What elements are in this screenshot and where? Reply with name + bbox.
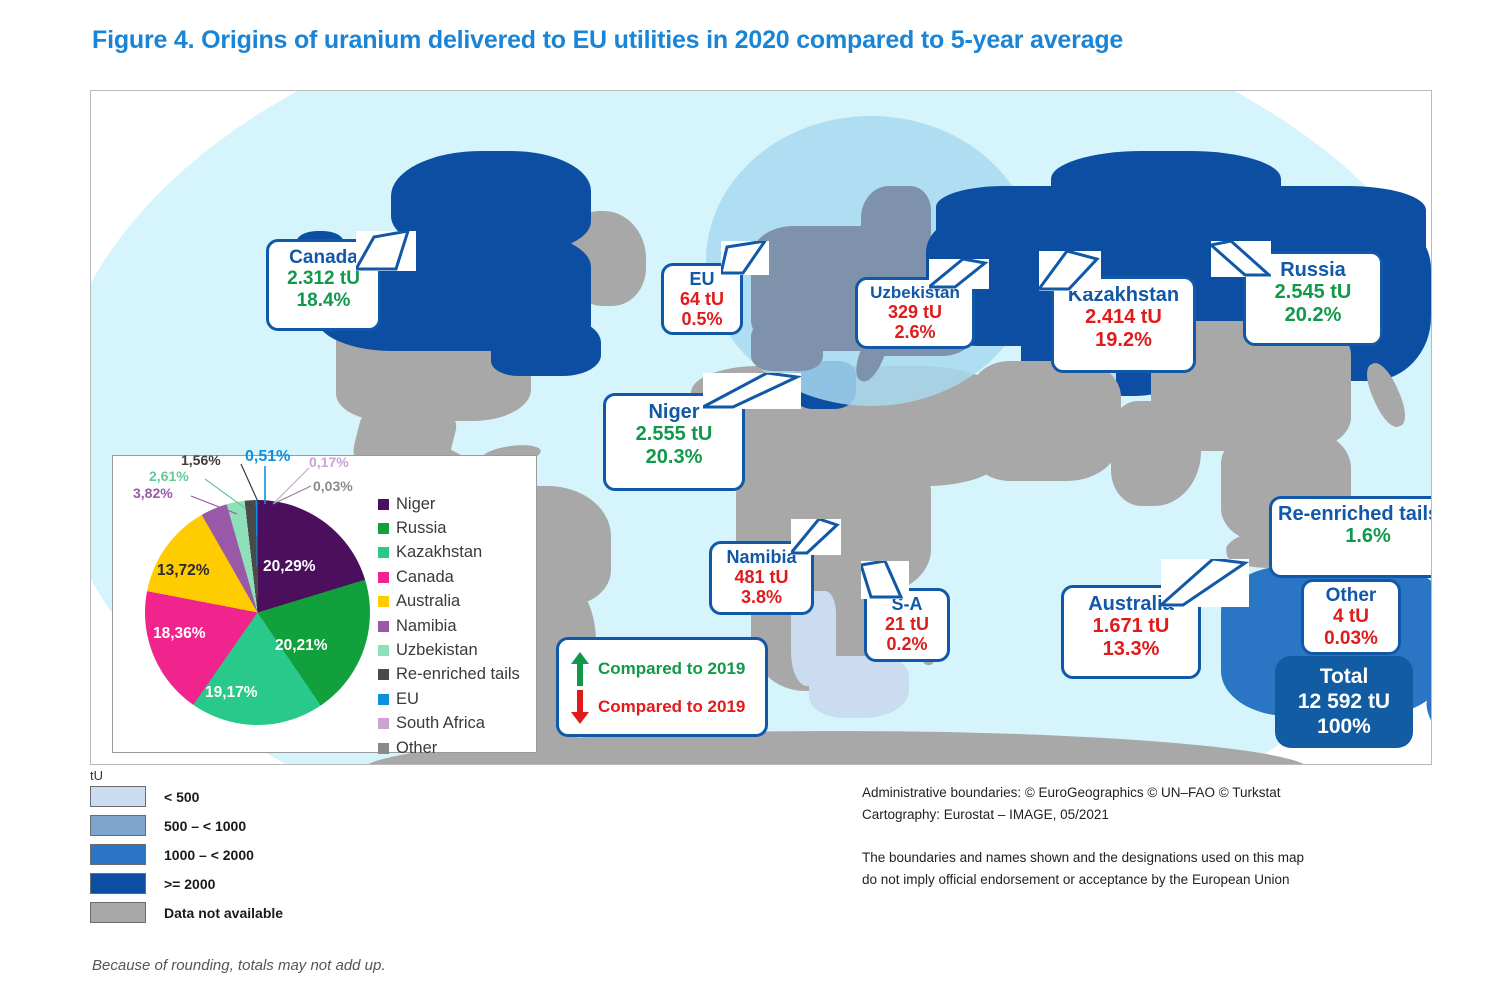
pie-label-niger: 20,29%: [263, 558, 316, 576]
class-legend-item: 1000 – < 2000: [90, 840, 283, 869]
callout-kazakhstan-amount: 2.414 tU: [1064, 306, 1183, 328]
callout-re-enriched-tails-name: Re-enriched tails: [1278, 503, 1432, 525]
class-legend-label: 500 – < 1000: [164, 818, 246, 834]
callout-uzbekistan-amount: 329 tU: [862, 302, 968, 322]
class-legend-label: Data not available: [164, 905, 283, 921]
pie-label-uzbekistan: 2,61%: [149, 468, 189, 484]
class-legend-swatch: [90, 844, 146, 865]
class-legend-label: 1000 – < 2000: [164, 847, 254, 863]
page-title: Figure 4. Origins of uranium delivered t…: [92, 26, 1123, 55]
pie-legend-swatch: [378, 499, 389, 510]
class-legend-label: >= 2000: [164, 876, 215, 892]
pie-legend-swatch: [378, 523, 389, 534]
callout-australia-percent: 13.3%: [1074, 638, 1188, 660]
land-south-africa: [809, 656, 909, 718]
callout-kazakhstan-percent: 19.2%: [1064, 329, 1183, 351]
pie-legend-swatch: [378, 572, 389, 583]
pie-legend-label: Australia: [396, 592, 460, 611]
attribution-line-3: The boundaries and names shown and the d…: [862, 847, 1304, 869]
class-legend-swatch: [90, 786, 146, 807]
callout-russia-amount: 2.545 tU: [1256, 281, 1370, 303]
callout-canada-pointer: [356, 231, 416, 271]
pie-legend-swatch: [378, 645, 389, 656]
callout-eu-amount: 64 tU: [668, 289, 736, 309]
pie-legend-label: Other: [396, 739, 437, 758]
class-legend-item: < 500: [90, 782, 283, 811]
pie-label-russia: 20,21%: [275, 637, 328, 655]
pie-legend-item: Australia: [378, 590, 520, 614]
pie-label-canada: 18,36%: [153, 625, 206, 643]
trend-legend-row-down: Compared to 2019: [571, 690, 749, 724]
trend-legend: Compared to 2019 Compared to 2019: [556, 637, 768, 737]
pie-legend-label: Canada: [396, 568, 454, 587]
arrow-up-icon: [571, 652, 589, 686]
pie-legend-label: Uzbekistan: [396, 641, 478, 660]
pie-legend-item: EU: [378, 687, 520, 711]
attribution-line-1: Administrative boundaries: © EuroGeograp…: [862, 782, 1304, 804]
class-legend-item: 500 – < 1000: [90, 811, 283, 840]
pie-label-australia: 13,72%: [157, 562, 210, 580]
pie-label-eu: 0,51%: [245, 448, 290, 466]
callout-canada-name: Canada: [279, 247, 368, 268]
callout-russia-name: Russia: [1256, 259, 1370, 281]
land-iberia: [751, 321, 823, 371]
pie-label-tails: 1,56%: [181, 452, 221, 468]
callout-niger-amount: 2.555 tU: [616, 423, 732, 445]
pie-legend-swatch: [378, 669, 389, 680]
callout-namibia-amount: 481 tU: [716, 567, 807, 587]
pie-legend-label: EU: [396, 690, 419, 709]
pie-legend-item: Kazakhstan: [378, 541, 520, 565]
map-attribution: Administrative boundaries: © EuroGeograp…: [862, 782, 1304, 891]
class-legend: < 500500 – < 10001000 – < 2000>= 2000Dat…: [90, 782, 283, 927]
pie-legend-item: Niger: [378, 492, 520, 516]
pie-legend-swatch: [378, 596, 389, 607]
class-legend-label: < 500: [164, 789, 199, 805]
pie-label-other: 0,03%: [313, 478, 353, 494]
pie-legend-label: Re-enriched tails: [396, 665, 520, 684]
pie-legend-item: Uzbekistan: [378, 638, 520, 662]
callout-other[interactable]: Other 4 tU 0.03%: [1301, 579, 1401, 655]
callout-eu-percent: 0.5%: [668, 309, 736, 329]
footnote: Because of rounding, totals may not add …: [92, 957, 386, 974]
pie-legend-item: Canada: [378, 565, 520, 589]
pie-legend-item: Re-enriched tails: [378, 663, 520, 687]
callout-re-enriched-tails[interactable]: Re-enriched tails 196 tU 1.6%: [1269, 496, 1432, 578]
class-legend-swatch: [90, 815, 146, 836]
pie-legend-label: Niger: [396, 495, 435, 514]
trend-legend-down-label: Compared to 2019: [598, 697, 745, 717]
class-legend-item: >= 2000: [90, 869, 283, 898]
callout-niger-pointer: [703, 373, 801, 409]
land-canada-arctic: [391, 151, 591, 251]
total-amount: 12 592 tU: [1289, 689, 1399, 714]
pie-label-namibia: 3,82%: [133, 485, 173, 501]
callout-namibia-pointer: [791, 519, 841, 555]
pie-legend-swatch: [378, 694, 389, 705]
total-percent: 100%: [1289, 714, 1399, 739]
callout-eu-pointer: [721, 241, 769, 275]
land-british-isles: [779, 236, 827, 294]
callout-uzbekistan-pointer: [929, 259, 989, 289]
class-legend-swatch: [90, 873, 146, 894]
pie-legend-swatch: [378, 547, 389, 558]
callout-niger-percent: 20.3%: [616, 446, 732, 468]
callout-russia-percent: 20.2%: [1256, 304, 1370, 326]
pie-chart-panel: 20,29% 20,21% 19,17% 18,36% 13,72% 3,82%…: [112, 455, 537, 753]
pie-legend-swatch: [378, 718, 389, 729]
pie-legend-swatch: [378, 743, 389, 754]
callout-other-percent: 0.03%: [1308, 628, 1394, 649]
land-middle-east: [971, 361, 1121, 481]
class-legend-unit: tU: [90, 768, 103, 783]
total-box: Total 12 592 tU 100%: [1275, 656, 1413, 748]
pie-legend-label: Russia: [396, 519, 446, 538]
total-label: Total: [1289, 664, 1399, 689]
callout-australia-amount: 1.671 tU: [1074, 615, 1188, 637]
callout-canada-percent: 18.4%: [279, 290, 368, 311]
callout-south-africa-pointer: [861, 561, 909, 599]
attribution-line-2: Cartography: Eurostat – IMAGE, 05/2021: [862, 804, 1304, 826]
pie-legend-label: Kazakhstan: [396, 543, 482, 562]
callout-australia-pointer: [1161, 559, 1249, 607]
pie-legend-item: Other: [378, 736, 520, 760]
pie-legend-swatch: [378, 621, 389, 632]
callout-south-africa-percent: 0.2%: [871, 634, 943, 654]
callout-other-name: Other: [1308, 585, 1394, 606]
pie-label-kazakhstan: 19,17%: [205, 684, 258, 702]
pie-label-south-africa: 0,17%: [309, 454, 349, 470]
callout-uzbekistan-percent: 2.6%: [862, 322, 968, 342]
pie-legend: NigerRussiaKazakhstanCanadaAustraliaNami…: [378, 492, 520, 760]
land-siberia-north: [1051, 151, 1281, 221]
callout-canada-amount: 2.312 tU: [279, 268, 368, 289]
callout-re-enriched-tails-percent: 1.6%: [1278, 525, 1432, 547]
pie-legend-item: Namibia: [378, 614, 520, 638]
callout-kazakhstan-pointer: [1039, 251, 1101, 291]
pie-legend-item: Russia: [378, 516, 520, 540]
attribution-line-4: do not imply official endorsement or acc…: [862, 869, 1304, 891]
callout-south-africa-amount: 21 tU: [871, 614, 943, 634]
land-scandinavia: [861, 186, 931, 266]
arrow-down-icon: [571, 690, 589, 724]
class-legend-swatch: [90, 902, 146, 923]
class-legend-item: Data not available: [90, 898, 283, 927]
callout-russia-pointer: [1211, 241, 1271, 277]
callout-other-amount: 4 tU: [1308, 606, 1394, 627]
pie-legend-item: South Africa: [378, 712, 520, 736]
trend-legend-up-label: Compared to 2019: [598, 659, 745, 679]
callout-namibia-percent: 3.8%: [716, 587, 807, 607]
pie-chart: 20,29% 20,21% 19,17% 18,36% 13,72%: [145, 500, 370, 725]
trend-legend-row-up: Compared to 2019: [571, 652, 749, 686]
pie-legend-label: Namibia: [396, 617, 457, 636]
land-canada-east: [491, 316, 601, 376]
pie-legend-label: South Africa: [396, 714, 485, 733]
callout-south-africa[interactable]: S-A 21 tU 0.2%: [864, 588, 950, 662]
